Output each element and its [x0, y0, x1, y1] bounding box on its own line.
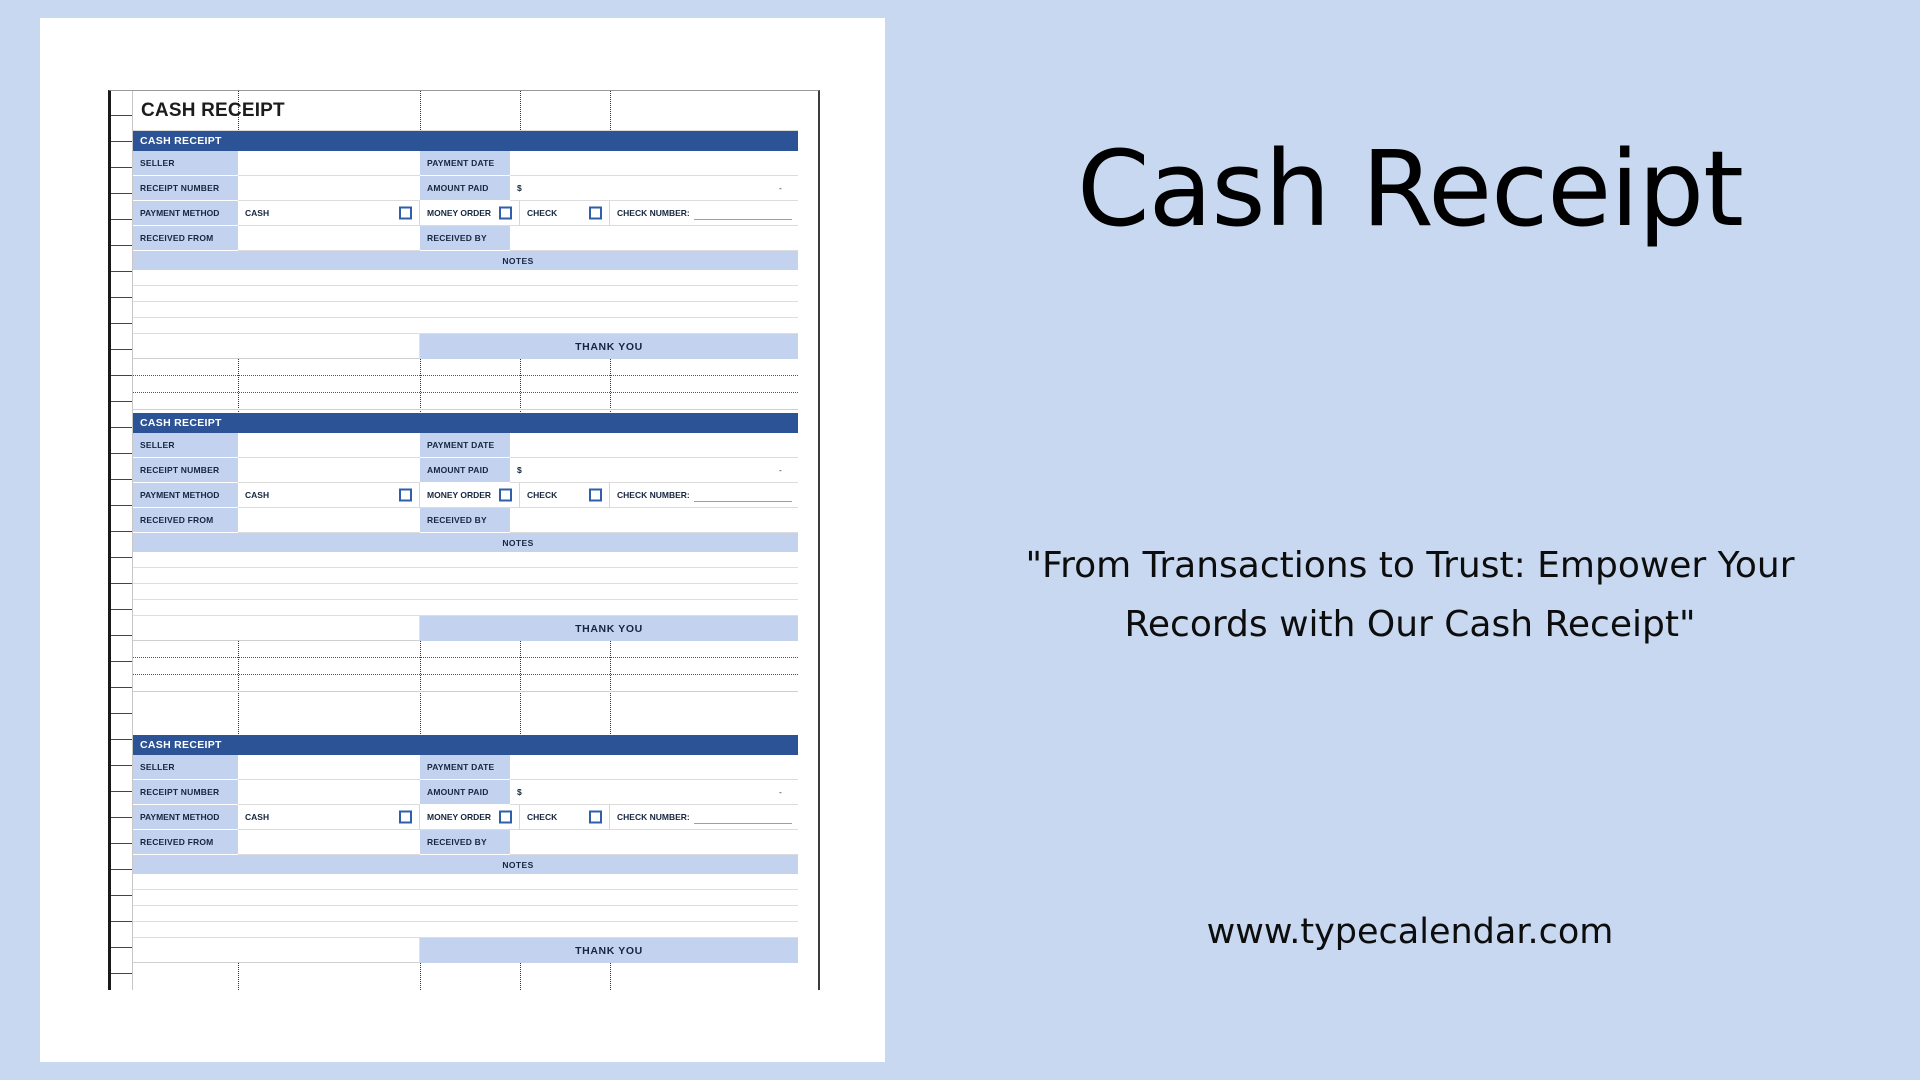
field-input-receipt-number[interactable] [238, 458, 420, 483]
form-row: RECEIPT NUMBERAMOUNT PAID$- [133, 458, 798, 483]
field-label-payment-method: PAYMENT METHOD [133, 805, 238, 830]
field-input-received-by[interactable] [510, 830, 798, 855]
field-input-receipt-number[interactable] [238, 780, 420, 805]
field-label-received-from: RECEIVED FROM [133, 830, 238, 855]
checkbox-money-order-icon[interactable] [499, 811, 512, 824]
payment-option-money-order[interactable]: MONEY ORDER [420, 201, 520, 226]
notes-header-row: NOTES [133, 855, 798, 874]
field-input-amount-paid[interactable]: $- [510, 780, 798, 805]
field-label-received-by: RECEIVED BY [420, 508, 510, 533]
thank-you-blank-cell [133, 616, 420, 641]
checkbox-check-icon[interactable] [589, 207, 602, 220]
check-number-underline [694, 501, 792, 502]
notes-input-line[interactable] [133, 552, 798, 568]
check-number-field[interactable]: CHECK NUMBER: [610, 805, 798, 830]
form-row: RECEIPT NUMBERAMOUNT PAID$- [133, 176, 798, 201]
paper-sheet-background: CASH RECEIPTCASH RECEIPTSELLERPAYMENT DA… [40, 18, 885, 1062]
notes-input-line[interactable] [133, 270, 798, 286]
notes-header-row: NOTES [133, 251, 798, 270]
payment-option-check[interactable]: CHECK [520, 201, 610, 226]
check-number-underline [694, 219, 792, 220]
field-input-seller[interactable] [238, 755, 420, 780]
thank-you-label: THANK YOU [420, 334, 798, 359]
field-input-payment-date[interactable] [510, 433, 798, 458]
receipt-block: CASH RECEIPTCASH RECEIPTSELLERPAYMENT DA… [133, 91, 798, 410]
checkbox-money-order-icon[interactable] [499, 489, 512, 502]
notes-input-line[interactable] [133, 318, 798, 334]
payment-option-cash[interactable]: CASH [238, 805, 420, 830]
row-number-gutter [111, 91, 133, 990]
notes-input-line[interactable] [133, 600, 798, 616]
thank-you-label: THANK YOU [420, 938, 798, 963]
field-label-received-from: RECEIVED FROM [133, 226, 238, 251]
field-label-payment-date: PAYMENT DATE [420, 433, 510, 458]
thank-you-blank-cell [133, 938, 420, 963]
field-label-seller: SELLER [133, 433, 238, 458]
payment-option-money-order[interactable]: MONEY ORDER [420, 483, 520, 508]
field-label-receipt-number: RECEIPT NUMBER [133, 458, 238, 483]
spreadsheet-canvas: CASH RECEIPTCASH RECEIPTSELLERPAYMENT DA… [108, 90, 820, 990]
thank-you-row: THANK YOU [133, 938, 798, 963]
field-input-received-by[interactable] [510, 508, 798, 533]
website-url: www.typecalendar.com [900, 912, 1920, 952]
field-input-amount-paid[interactable]: $- [510, 176, 798, 201]
form-row: RECEIVED FROMRECEIVED BY [133, 226, 798, 251]
checkbox-cash-icon[interactable] [399, 811, 412, 824]
notes-header-row: NOTES [133, 533, 798, 552]
field-input-received-from[interactable] [238, 830, 420, 855]
payment-option-check[interactable]: CHECK [520, 805, 610, 830]
field-input-receipt-number[interactable] [238, 176, 420, 201]
field-input-seller[interactable] [238, 433, 420, 458]
payment-option-money-order[interactable]: MONEY ORDER [420, 805, 520, 830]
notes-label: NOTES [238, 533, 798, 552]
checkbox-money-order-icon[interactable] [499, 207, 512, 220]
field-label-payment-date: PAYMENT DATE [420, 151, 510, 176]
notes-left-spacer [133, 855, 238, 874]
field-label-payment-method: PAYMENT METHOD [133, 483, 238, 508]
checkbox-check-icon[interactable] [589, 489, 602, 502]
field-input-payment-date[interactable] [510, 151, 798, 176]
form-row: SELLERPAYMENT DATE [133, 151, 798, 176]
form-row: RECEIPT NUMBERAMOUNT PAID$- [133, 780, 798, 805]
field-label-receipt-number: RECEIPT NUMBER [133, 176, 238, 201]
field-input-received-from[interactable] [238, 226, 420, 251]
field-label-received-from: RECEIVED FROM [133, 508, 238, 533]
checkbox-check-icon[interactable] [589, 811, 602, 824]
field-label-amount-paid: AMOUNT PAID [420, 458, 510, 483]
field-label-receipt-number: RECEIPT NUMBER [133, 780, 238, 805]
payment-option-cash[interactable]: CASH [238, 483, 420, 508]
notes-input-line[interactable] [133, 890, 798, 906]
payment-method-row: PAYMENT METHODCASHMONEY ORDERCHECKCHECK … [133, 483, 798, 508]
form-row: SELLERPAYMENT DATE [133, 755, 798, 780]
notes-input-line[interactable] [133, 568, 798, 584]
form-row: RECEIVED FROMRECEIVED BY [133, 508, 798, 533]
payment-method-row: PAYMENT METHODCASHMONEY ORDERCHECKCHECK … [133, 805, 798, 830]
field-input-received-from[interactable] [238, 508, 420, 533]
field-label-received-by: RECEIVED BY [420, 226, 510, 251]
receipt-header-bar: CASH RECEIPT [133, 735, 798, 755]
promo-panel: Cash Receipt "From Transactions to Trust… [900, 0, 1920, 1080]
check-number-underline [694, 823, 792, 824]
field-input-received-by[interactable] [510, 226, 798, 251]
form-row: RECEIVED FROMRECEIVED BY [133, 830, 798, 855]
notes-input-line[interactable] [133, 286, 798, 302]
sheet-title: CASH RECEIPT [133, 91, 798, 131]
field-label-amount-paid: AMOUNT PAID [420, 176, 510, 201]
notes-input-line[interactable] [133, 302, 798, 318]
thank-you-blank-cell [133, 334, 420, 359]
notes-label: NOTES [238, 855, 798, 874]
sheet-gap-rows [133, 641, 798, 692]
sheet-gap-rows [133, 359, 798, 410]
field-label-amount-paid: AMOUNT PAID [420, 780, 510, 805]
payment-option-cash[interactable]: CASH [238, 201, 420, 226]
field-label-payment-method: PAYMENT METHOD [133, 201, 238, 226]
tagline-text: "From Transactions to Trust: Empower You… [1010, 536, 1810, 655]
check-number-field[interactable]: CHECK NUMBER: [610, 201, 798, 226]
field-label-seller: SELLER [133, 151, 238, 176]
payment-method-row: PAYMENT METHODCASHMONEY ORDERCHECKCHECK … [133, 201, 798, 226]
field-label-received-by: RECEIVED BY [420, 830, 510, 855]
field-label-seller: SELLER [133, 755, 238, 780]
field-input-payment-date[interactable] [510, 755, 798, 780]
thank-you-row: THANK YOU [133, 334, 798, 359]
receipt-header-bar: CASH RECEIPT [133, 131, 798, 151]
receipt-block: CASH RECEIPTSELLERPAYMENT DATERECEIPT NU… [133, 413, 798, 692]
checkbox-cash-icon[interactable] [399, 489, 412, 502]
notes-input-line[interactable] [133, 906, 798, 922]
thank-you-row: THANK YOU [133, 616, 798, 641]
notes-input-line[interactable] [133, 584, 798, 600]
notes-left-spacer [133, 533, 238, 552]
thank-you-label: THANK YOU [420, 616, 798, 641]
check-number-field[interactable]: CHECK NUMBER: [610, 483, 798, 508]
notes-label: NOTES [238, 251, 798, 270]
notes-left-spacer [133, 251, 238, 270]
checkbox-cash-icon[interactable] [399, 207, 412, 220]
form-row: SELLERPAYMENT DATE [133, 433, 798, 458]
receipt-header-bar: CASH RECEIPT [133, 413, 798, 433]
notes-input-line[interactable] [133, 922, 798, 938]
page-title: Cash Receipt [900, 128, 1920, 250]
receipt-block: CASH RECEIPTSELLERPAYMENT DATERECEIPT NU… [133, 735, 798, 963]
field-input-amount-paid[interactable]: $- [510, 458, 798, 483]
notes-input-line[interactable] [133, 874, 798, 890]
field-input-seller[interactable] [238, 151, 420, 176]
field-label-payment-date: PAYMENT DATE [420, 755, 510, 780]
payment-option-check[interactable]: CHECK [520, 483, 610, 508]
